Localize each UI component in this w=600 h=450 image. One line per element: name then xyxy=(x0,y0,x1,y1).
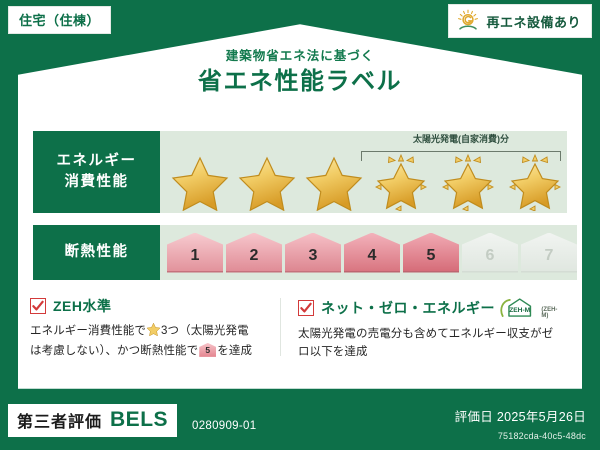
star-filled xyxy=(166,153,233,211)
criterion-zeh-desc-star-count: 3つ（太陽光発電 xyxy=(161,325,249,337)
energy-label-line-2: 消費性能 xyxy=(65,172,129,193)
insulation-level-badge-inactive: 7 xyxy=(521,233,577,273)
energy-performance-label: エネルギー 消費性能 xyxy=(33,131,160,213)
third-party-evaluation-label: 第三者評価 xyxy=(17,408,102,432)
renewable-equipment-label: 再エネ設備あり xyxy=(486,12,581,31)
criterion-nze-head: ネット・ゼロ・エネルギー ZEH-M (ZEH-M) xyxy=(298,296,562,320)
insulation-performance-body: 1 2 3 4 5 xyxy=(160,225,577,280)
evaluation-date: 評価日 2025年5月26日 xyxy=(455,406,586,425)
inline-insulation-badge-number: 5 xyxy=(199,343,216,357)
evaluation-uid: 75182cda-40c5-48dc xyxy=(498,431,586,441)
inline-star-icon xyxy=(146,322,161,343)
criterion-zeh-title: ZEH水準 xyxy=(53,296,112,316)
bels-certificate-number: 0280909-01 xyxy=(192,420,256,432)
insulation-level-number: 5 xyxy=(427,248,436,273)
zeh-m-badge: ZEH-M (ZEH-M) xyxy=(500,296,562,320)
star-solar xyxy=(434,153,501,211)
solar-portion-bracket-label-wrap: 太陽光発電(自家消費)分 xyxy=(361,133,561,145)
criterion-zeh-desc-part1: エネルギー消費性能で xyxy=(30,325,146,337)
criterion-zeh-desc-part2: は考慮しない）、かつ断熱性能で xyxy=(30,345,198,357)
star-solar xyxy=(501,153,568,211)
insulation-level-number: 6 xyxy=(486,248,495,273)
insulation-performance-label: 断熱性能 xyxy=(33,225,160,280)
criterion-zeh-desc-part3: を達成 xyxy=(217,345,252,357)
energy-performance-row: エネルギー 消費性能 太陽光発電(自家消費)分 xyxy=(33,131,567,213)
insulation-level-scale: 1 2 3 4 5 xyxy=(160,225,577,280)
housing-type-label: 住宅（住棟） xyxy=(19,10,100,29)
renewable-equipment-chip: 再エネ設備あり xyxy=(448,4,592,38)
insulation-level-badge: 1 xyxy=(167,233,223,273)
title-block: 建築物省エネ法に基づく 省エネ性能ラベル xyxy=(0,48,600,97)
insulation-performance-row: 断熱性能 1 2 3 4 xyxy=(33,225,567,280)
inline-insulation-badge: 5 xyxy=(199,343,216,357)
criterion-zeh-head: ZEH水準 xyxy=(30,296,268,316)
criterion-zeh-standard: ZEH水準 エネルギー消費性能で3つ（太陽光発電は考慮しない）、かつ断熱性能で5… xyxy=(30,296,276,362)
insulation-level-badge: 2 xyxy=(226,233,282,273)
energy-label-line-1: エネルギー xyxy=(57,151,137,172)
insulation-level-number: 7 xyxy=(545,248,554,273)
criterion-nze-title: ネット・ゼロ・エネルギー xyxy=(321,298,495,318)
criterion-nze-description: 太陽光発電の売電分も含めてエネルギー収支がゼロ以下を達成 xyxy=(298,326,562,362)
star-filled xyxy=(300,153,367,211)
criteria-section: ZEH水準 エネルギー消費性能で3つ（太陽光発電は考慮しない）、かつ断熱性能で5… xyxy=(30,296,570,362)
energy-star-rating xyxy=(160,151,567,213)
checkbox-checked-icon xyxy=(298,300,314,316)
title-subtitle: 建築物省エネ法に基づく xyxy=(0,48,600,64)
insulation-level-number: 2 xyxy=(250,248,259,273)
energy-performance-body: 太陽光発電(自家消費)分 xyxy=(160,131,567,213)
solar-portion-bracket-label: 太陽光発電(自家消費)分 xyxy=(408,134,514,144)
footer-bar: 第三者評価 BELS 0280909-01 評価日 2025年5月26日 751… xyxy=(0,392,600,450)
star-solar xyxy=(367,153,434,211)
star-filled xyxy=(233,153,300,211)
insulation-level-badge: 3 xyxy=(285,233,341,273)
insulation-level-badge-achieved: 5 xyxy=(403,233,459,273)
insulation-level-number: 4 xyxy=(368,248,377,273)
housing-type-chip: 住宅（住棟） xyxy=(8,6,111,34)
insulation-level-number: 3 xyxy=(309,248,318,273)
bels-evaluation-chip: 第三者評価 BELS xyxy=(8,404,177,437)
insulation-label-text: 断熱性能 xyxy=(65,242,129,263)
insulation-level-badge-inactive: 6 xyxy=(462,233,518,273)
page-title: 省エネ性能ラベル xyxy=(0,67,600,97)
solar-sun-icon xyxy=(455,8,481,34)
bels-logo-text: BELS xyxy=(110,408,168,432)
insulation-level-number: 1 xyxy=(191,248,200,273)
zeh-m-badge-sublabel: (ZEH-M) xyxy=(541,307,562,320)
criterion-zeh-description: エネルギー消費性能で3つ（太陽光発電は考慮しない）、かつ断熱性能で5を達成 xyxy=(30,322,268,361)
insulation-level-badge: 4 xyxy=(344,233,400,273)
energy-performance-label-card: 住宅（住棟） 再エネ設備あり 建築物省エネ法に基づく xyxy=(0,0,600,450)
criterion-net-zero-energy: ネット・ゼロ・エネルギー ZEH-M (ZEH-M) 太陽光発電の売電分も含めて… xyxy=(276,296,570,362)
checkbox-checked-icon xyxy=(30,298,46,314)
svg-text:ZEH-M: ZEH-M xyxy=(509,307,530,314)
